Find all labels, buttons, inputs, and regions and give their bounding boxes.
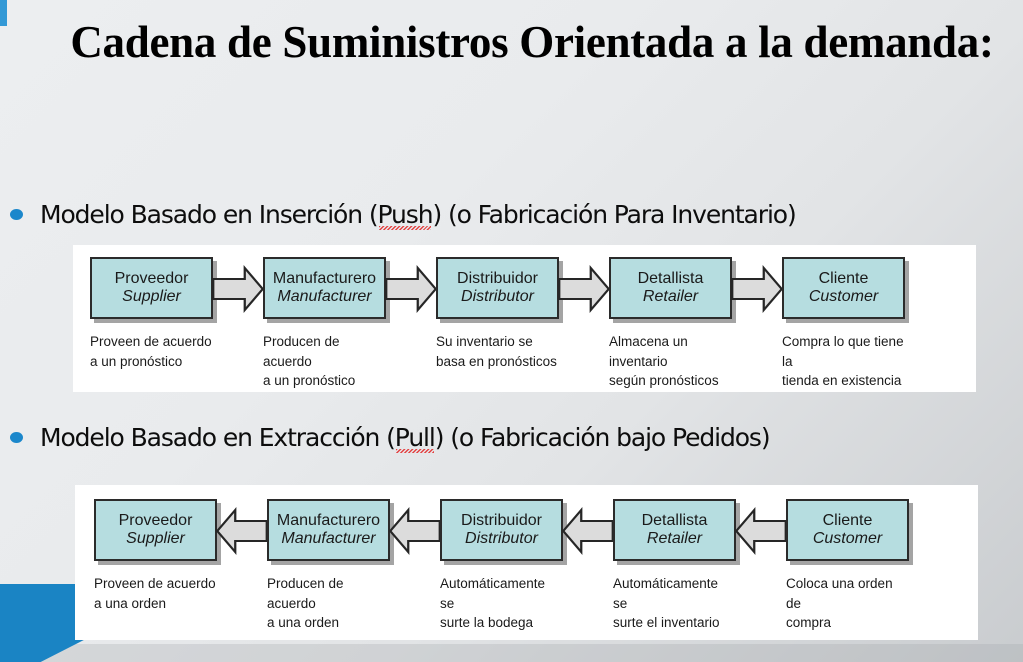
node-caption: Producen de acuerdo a una orden [267, 574, 390, 633]
flow-arrow-left [734, 507, 788, 555]
node-caption: Automáticamente se surte la bodega [440, 574, 563, 633]
node-label-es: Distribuidor [457, 270, 538, 288]
node-box-retailer[interactable]: DetallistaRetailer [609, 257, 732, 319]
chain-node-distributor[interactable]: DistribuidorDistributorAutomáticamente s… [440, 499, 563, 633]
node-label-en: Customer [813, 530, 882, 548]
diagram-panel-pull: ProveedorSupplierProveen de acuerdo a un… [75, 485, 978, 640]
supply-chain-push: ProveedorSupplierProveen de acuerdo a un… [73, 245, 976, 392]
chain-node-customer[interactable]: ClienteCustomerCompra lo que tiene la ti… [782, 257, 905, 391]
node-caption: Coloca una orden de compra [786, 574, 909, 633]
node-label-es: Manufacturero [273, 270, 376, 288]
node-label-es: Proveedor [119, 512, 193, 530]
page-title: Cadena de Suministros Orientada a la dem… [58, 14, 1006, 72]
chain-node-retailer[interactable]: DetallistaRetailerAutomáticamente se sur… [613, 499, 736, 633]
node-label-en: Customer [809, 288, 878, 306]
bullet-dot-icon [10, 432, 23, 443]
node-label-en: Retailer [643, 288, 698, 306]
node-label-en: Manufacturer [277, 288, 371, 306]
node-label-es: Detallista [638, 270, 704, 288]
node-label-en: Retailer [647, 530, 702, 548]
bullet-push-misspelled-word: Push [378, 200, 433, 229]
node-label-es: Proveedor [115, 270, 189, 288]
flow-arrow-left [388, 507, 442, 555]
node-caption: Su inventario se basa en pronósticos [436, 332, 559, 371]
chain-node-retailer[interactable]: DetallistaRetailerAlmacena un inventario… [609, 257, 732, 391]
node-label-en: Distributor [461, 288, 534, 306]
node-box-customer[interactable]: ClienteCustomer [786, 499, 909, 561]
node-box-distributor[interactable]: DistribuidorDistributor [440, 499, 563, 561]
node-box-retailer[interactable]: DetallistaRetailer [613, 499, 736, 561]
chain-node-customer[interactable]: ClienteCustomerColoca una orden de compr… [786, 499, 909, 633]
node-label-en: Manufacturer [281, 530, 375, 548]
node-box-manufacturer[interactable]: ManufactureroManufacturer [267, 499, 390, 561]
node-caption: Compra lo que tiene la tienda en existen… [782, 332, 905, 391]
node-caption: Proveen de acuerdo a un pronóstico [90, 332, 213, 371]
chain-node-supplier[interactable]: ProveedorSupplierProveen de acuerdo a un… [94, 499, 217, 613]
flow-arrow-right [557, 265, 611, 313]
chain-node-manufacturer[interactable]: ManufactureroManufacturerProducen de acu… [263, 257, 386, 391]
bullet-label-pull: Modelo Basado en Extracción (Pull) (o Fa… [40, 423, 770, 452]
bullet-item-pull: Modelo Basado en Extracción (Pull) (o Fa… [10, 423, 770, 452]
node-box-distributor[interactable]: DistribuidorDistributor [436, 257, 559, 319]
chain-node-distributor[interactable]: DistribuidorDistributorSu inventario se … [436, 257, 559, 371]
node-caption: Producen de acuerdo a un pronóstico [263, 332, 386, 391]
node-label-es: Distribuidor [461, 512, 542, 530]
flow-arrow-right [730, 265, 784, 313]
node-box-manufacturer[interactable]: ManufactureroManufacturer [263, 257, 386, 319]
node-caption: Almacena un inventario según pronósticos [609, 332, 732, 391]
bullet-pull-post: ) (o Fabricación bajo Pedidos) [435, 423, 770, 452]
node-box-supplier[interactable]: ProveedorSupplier [94, 499, 217, 561]
chain-node-supplier[interactable]: ProveedorSupplierProveen de acuerdo a un… [90, 257, 213, 371]
flow-arrow-right [384, 265, 438, 313]
top-left-accent-strip [0, 0, 7, 26]
node-label-en: Supplier [126, 530, 185, 548]
bullet-push-post: ) (o Fabricación Para Inventario) [432, 200, 795, 229]
node-label-en: Supplier [122, 288, 181, 306]
bullet-pull-pre: Modelo Basado en Extracción ( [40, 423, 395, 452]
flow-arrow-right [211, 265, 265, 313]
chain-node-manufacturer[interactable]: ManufactureroManufacturerProducen de acu… [267, 499, 390, 633]
node-label-es: Detallista [642, 512, 708, 530]
slide-canvas: Cadena de Suministros Orientada a la dem… [0, 0, 1023, 662]
node-label-es: Cliente [823, 512, 873, 530]
bullet-pull-misspelled-word: Pull [395, 423, 435, 452]
bullet-dot-icon [10, 209, 23, 220]
bullet-push-pre: Modelo Basado en Inserción ( [40, 200, 378, 229]
flow-arrow-left [215, 507, 269, 555]
bullet-label-push: Modelo Basado en Inserción (Push) (o Fab… [40, 200, 796, 229]
node-caption: Proveen de acuerdo a una orden [94, 574, 217, 613]
supply-chain-pull: ProveedorSupplierProveen de acuerdo a un… [75, 485, 978, 640]
node-box-supplier[interactable]: ProveedorSupplier [90, 257, 213, 319]
node-caption: Automáticamente se surte el inventario [613, 574, 736, 633]
diagram-panel-push: ProveedorSupplierProveen de acuerdo a un… [73, 245, 976, 392]
node-label-es: Cliente [819, 270, 869, 288]
node-box-customer[interactable]: ClienteCustomer [782, 257, 905, 319]
bullet-item-push: Modelo Basado en Inserción (Push) (o Fab… [10, 200, 796, 229]
node-label-es: Manufacturero [277, 512, 380, 530]
node-label-en: Distributor [465, 530, 538, 548]
flow-arrow-left [561, 507, 615, 555]
bottom-shade-band [0, 644, 1023, 662]
